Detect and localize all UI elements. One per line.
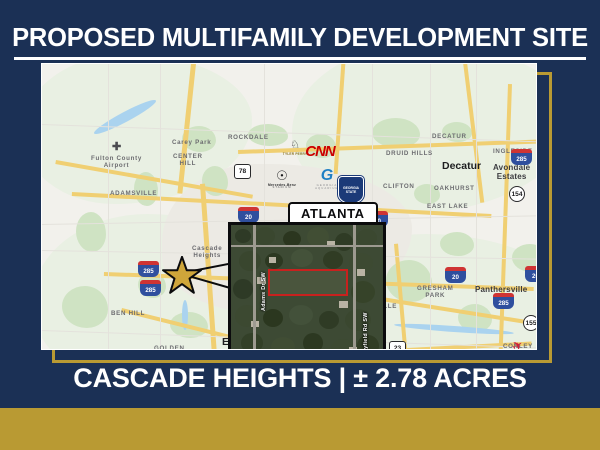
tyler-perry-mark: ♘ — [290, 139, 300, 151]
site-location-star-marker[interactable] — [162, 256, 202, 294]
regional-map-panel[interactable]: Carey ParkROCKDALECENTERHILLFulton Count… — [42, 64, 536, 349]
tree-canopy — [289, 305, 313, 325]
map-road — [160, 64, 161, 349]
map-place-label: Decatur — [442, 160, 481, 172]
slide-canvas: PROPOSED MULTIFAMILY DEVELOPMENT SITE — [0, 0, 600, 450]
tree-canopy — [271, 337, 295, 349]
map-place-label: CLIFTON — [383, 183, 415, 190]
map-place-label: DECATUR — [432, 133, 467, 140]
map-place-label: GOLDENACRES — [154, 346, 185, 349]
site-boundary-outline — [268, 269, 348, 296]
highway-shield-78: 78 — [234, 164, 251, 179]
cnn-logo: CNN — [300, 142, 340, 160]
rooftop — [357, 269, 365, 276]
rooftop — [339, 301, 348, 308]
map-road — [476, 64, 477, 349]
highway-shield-23: 23 — [389, 341, 406, 349]
georgia-state-logo: GEORGIA STATE — [338, 176, 364, 204]
footer-title: CASCADE HEIGHTS | ± 2.78 ACRES — [0, 363, 600, 394]
tree-canopy — [291, 249, 313, 267]
highway-shield-20: 20 — [238, 207, 259, 223]
rooftop — [269, 257, 276, 263]
tree-canopy — [235, 229, 251, 243]
street-label-left: Adams Dr SW — [261, 272, 267, 311]
map-road — [108, 64, 109, 349]
aerial-street — [231, 245, 383, 247]
map-park — [76, 212, 106, 252]
aerial-photo: Adams Dr SW Mayfield Rd SW — [231, 225, 383, 349]
map-canvas: Carey ParkROCKDALECENTERHILLFulton Count… — [42, 64, 536, 349]
mercedes-benz-mark: ☉ — [276, 168, 288, 183]
tree-canopy — [303, 333, 323, 349]
tree-canopy — [241, 333, 263, 349]
mercedes-benz-sublabel: STADIUM — [256, 187, 308, 190]
map-place-label: CENTERHILL — [173, 154, 203, 168]
map-place-label: AvondaleEstates — [493, 164, 530, 182]
highway-shield-154: 154 — [509, 186, 525, 202]
map-place-label: EAST LAKE — [427, 203, 468, 210]
map-place-label: Fulton CountyAirport — [91, 156, 142, 170]
map-place-label: ADAMSVILLE — [110, 190, 157, 197]
mercedes-benz-stadium-logo: ☉ Mercedes-Benz STADIUM — [256, 168, 308, 190]
aerial-street — [253, 225, 256, 349]
highway-shield-285: 285 — [493, 293, 514, 309]
map-park — [62, 286, 108, 328]
tree-canopy — [255, 227, 275, 245]
map-place-label: ROCKDALE — [228, 134, 269, 141]
georgia-state-sublabel: STATE — [346, 190, 357, 194]
tree-canopy — [319, 311, 339, 329]
page-title: PROPOSED MULTIFAMILY DEVELOPMENT SITE — [0, 24, 600, 53]
highway-shield-155: 155 — [523, 315, 536, 331]
map-place-label: DRUID HILLS — [386, 150, 433, 157]
highway-shield-285: 285 — [138, 261, 159, 277]
georgia-aquarium-mark: G — [321, 167, 333, 184]
tree-canopy — [263, 309, 283, 327]
tree-canopy — [323, 251, 343, 269]
map-place-label: BEN HILL — [111, 310, 145, 317]
tree-canopy — [239, 251, 261, 271]
highway-shield-285: 285 — [511, 149, 532, 165]
title-underline — [14, 57, 586, 60]
highway-shield-20: 20 — [445, 267, 466, 283]
gold-footer-bar — [0, 408, 600, 450]
highway-shield-285: 285 — [140, 280, 161, 296]
map-place-label: Carey Park — [172, 139, 211, 146]
tree-canopy — [233, 279, 253, 299]
street-label-right: Mayfield Rd SW — [363, 312, 369, 349]
tree-canopy — [307, 227, 329, 247]
georgia-state-shield: GEORGIA STATE — [338, 176, 364, 204]
map-place-label: GRESHAMPARK — [417, 286, 454, 300]
map-park — [440, 232, 474, 256]
map-place-label: OAKHURST — [434, 185, 475, 192]
aerial-site-inset[interactable]: Adams Dr SW Mayfield Rd SW — [228, 222, 386, 349]
highway-shield-20: 20 — [525, 266, 536, 282]
airport-icon: ✚ — [112, 142, 121, 153]
tree-canopy — [335, 233, 353, 251]
aerial-street — [353, 225, 356, 349]
